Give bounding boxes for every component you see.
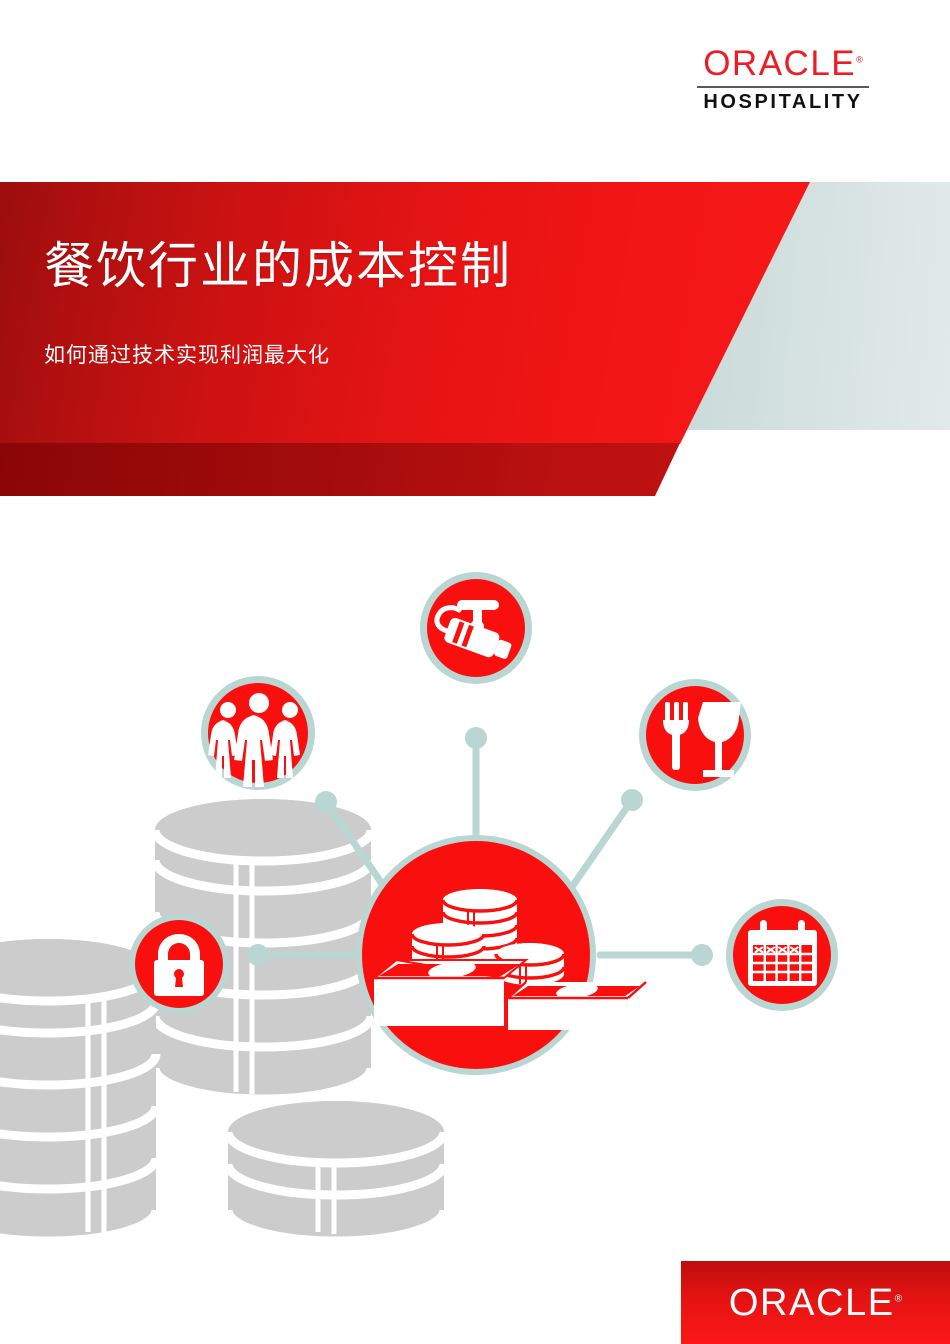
connector-dot-camera (465, 727, 487, 749)
connector-dot-calendar (691, 944, 713, 966)
node-people (201, 676, 315, 790)
connector-dot-people (315, 791, 337, 813)
node-dining (639, 679, 751, 791)
page-title: 餐饮行业的成本控制 (44, 238, 512, 296)
node-security-camera (420, 572, 532, 684)
page-subtitle: 如何通过技术实现利润最大化 (44, 342, 512, 369)
coin-stack-front (228, 1101, 444, 1241)
registered-trademark-icon: ® (895, 1293, 902, 1304)
node-lock (129, 914, 229, 1014)
banner-text-block: 餐饮行业的成本控制 如何通过技术实现利润最大化 (44, 238, 512, 369)
cover-page: ORACLE® HOSPITALITY 餐饮行业的成本控制 如何通过技术实现利润… (0, 0, 950, 1344)
oracle-wordmark: ORACLE® (703, 46, 863, 81)
connector-dot-lock (247, 944, 269, 966)
logo-divider (697, 86, 869, 88)
oracle-hospitality-logo: ORACLE® HOSPITALITY (697, 46, 869, 112)
oracle-product-line-label: HOSPITALITY (697, 92, 869, 112)
coin-stack-left (0, 939, 156, 1241)
oracle-footer-wordmark: ORACLE® (729, 1284, 902, 1322)
registered-trademark-icon: ® (856, 54, 863, 64)
oracle-footer-wordmark-text: ORACLE (729, 1282, 895, 1324)
title-banner: 餐饮行业的成本控制 如何通过技术实现利润最大化 (0, 182, 950, 502)
oracle-wordmark-text: ORACLE (703, 44, 856, 83)
banner-dark-red-strip (0, 443, 760, 496)
connector-dot-dining (621, 789, 643, 811)
oracle-footer-logo: ORACLE® (681, 1261, 950, 1344)
node-calendar (726, 899, 838, 1011)
cover-illustration (0, 520, 950, 1260)
